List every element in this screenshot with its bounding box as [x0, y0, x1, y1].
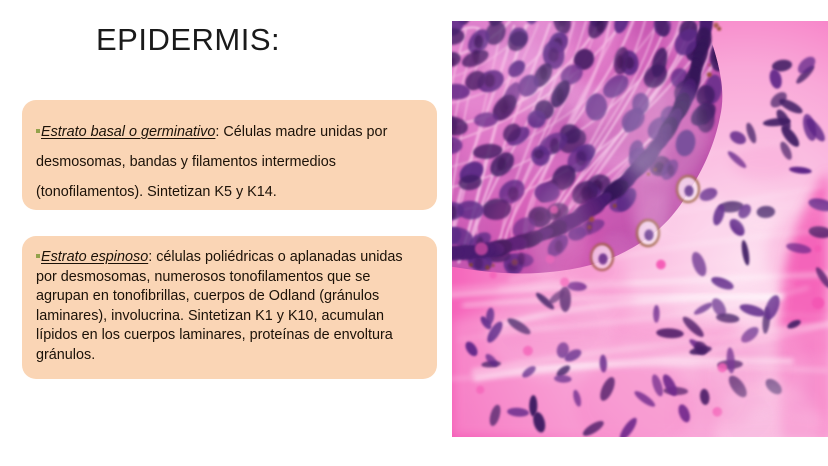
separator-colon: : — [148, 249, 156, 265]
micrograph-canvas — [452, 21, 828, 437]
bullet-square-icon — [36, 129, 40, 133]
callout-estrato-basal-text: Estrato basal o germinativo: Células mad… — [36, 117, 423, 207]
callout-estrato-espinoso: Estrato espinoso: células poliédricas o … — [22, 236, 437, 379]
term-estrato-espinoso: Estrato espinoso — [41, 249, 148, 265]
body-estrato-espinoso: células poliédricas o aplanadas unidas p… — [36, 249, 403, 363]
callout-estrato-basal: Estrato basal o germinativo: Células mad… — [22, 100, 437, 210]
callout-estrato-espinoso-text: Estrato espinoso: células poliédricas o … — [36, 248, 423, 366]
page-title: EPIDERMIS: — [96, 22, 280, 58]
slide-canvas: EPIDERMIS: Estrato basal o germinativo: … — [0, 0, 828, 466]
histology-micrograph-image — [452, 21, 828, 437]
term-estrato-basal: Estrato basal o germinativo — [41, 124, 215, 140]
bullet-square-icon — [36, 254, 40, 258]
